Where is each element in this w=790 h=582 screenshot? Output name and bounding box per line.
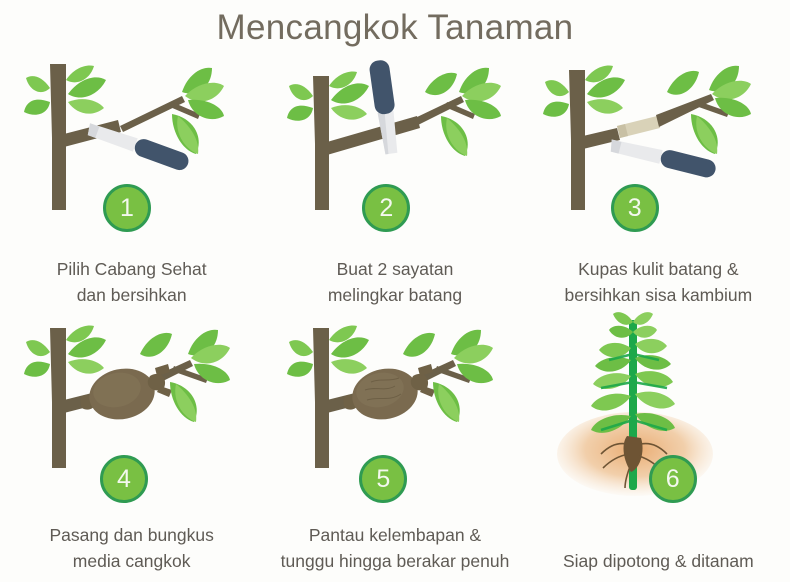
step-card-2: 2 Buat 2 sayatan melingkar batang bbox=[263, 58, 526, 320]
step-caption-1: Pilih Cabang Sehat dan bersihkan bbox=[0, 256, 263, 309]
caption-line: media cangkok bbox=[4, 548, 259, 574]
step-caption-3: Kupas kulit batang & bersihkan sisa kamb… bbox=[527, 256, 790, 309]
step-card-3: 3 Kupas kulit batang & bersihkan sisa ka… bbox=[527, 58, 790, 320]
step-badge-4: 4 bbox=[100, 455, 148, 503]
caption-line: tunggu hingga berakar penuh bbox=[267, 548, 522, 574]
infographic-root: Mencangkok Tanaman bbox=[0, 0, 790, 582]
caption-line: dan bersihkan bbox=[4, 282, 259, 308]
step-badge-1: 1 bbox=[103, 184, 151, 232]
step-number-1: 1 bbox=[120, 196, 134, 221]
step-badge-3: 3 bbox=[611, 184, 659, 232]
step-number-6: 6 bbox=[666, 467, 680, 492]
page-title: Mencangkok Tanaman bbox=[0, 8, 790, 48]
step-number-2: 2 bbox=[379, 196, 393, 221]
step-number-3: 3 bbox=[628, 196, 642, 221]
step-caption-5: Pantau kelembapan & tunggu hingga beraka… bbox=[263, 522, 526, 575]
caption-line: Buat 2 sayatan bbox=[267, 256, 522, 282]
step-number-5: 5 bbox=[376, 467, 390, 492]
step-caption-6: Siap dipotong & ditanam bbox=[527, 548, 790, 574]
step-card-1: 1 Pilih Cabang Sehat dan bersihkan bbox=[0, 58, 263, 320]
caption-line: Pasang dan bungkus bbox=[4, 522, 259, 548]
step-badge-2: 2 bbox=[362, 184, 410, 232]
step-card-4: 4 Pasang dan bungkus media cangkok bbox=[0, 320, 263, 582]
step-number-4: 4 bbox=[117, 467, 131, 492]
step-card-6: 6 Siap dipotong & ditanam bbox=[527, 320, 790, 582]
caption-line: Pilih Cabang Sehat bbox=[4, 256, 259, 282]
steps-grid: 1 Pilih Cabang Sehat dan bersihkan bbox=[0, 58, 790, 582]
step-caption-2: Buat 2 sayatan melingkar batang bbox=[263, 256, 526, 309]
step-badge-6: 6 bbox=[649, 455, 697, 503]
caption-line: Kupas kulit batang & bbox=[531, 256, 786, 282]
step-card-5: 5 Pantau kelembapan & tunggu hingga bera… bbox=[263, 320, 526, 582]
caption-line: Pantau kelembapan & bbox=[267, 522, 522, 548]
step-badge-5: 5 bbox=[359, 455, 407, 503]
caption-line: melingkar batang bbox=[267, 282, 522, 308]
caption-line: Siap dipotong & ditanam bbox=[531, 548, 786, 574]
step-caption-4: Pasang dan bungkus media cangkok bbox=[0, 522, 263, 575]
